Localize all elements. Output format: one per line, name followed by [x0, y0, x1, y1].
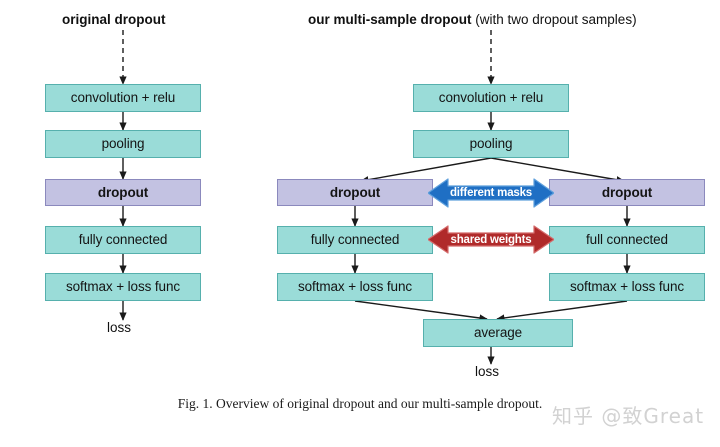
- watermark: 知乎 @致Great: [552, 400, 704, 429]
- arrow-softmax-right-to-average: [497, 301, 627, 319]
- node-fully-connected-branch-left: fully connected: [277, 226, 433, 254]
- output-label-loss-left: loss: [107, 320, 131, 335]
- node-dropout-branch-right: dropout: [549, 179, 705, 206]
- node-label: full connected: [586, 233, 668, 247]
- annotation-label: shared weights: [451, 234, 532, 246]
- node-softmax-loss-branch-right: softmax + loss func: [549, 273, 705, 301]
- node-label: fully connected: [311, 233, 400, 247]
- left-panel-title-text: original dropout: [62, 12, 166, 27]
- connector-layer: [0, 0, 720, 447]
- node-label: average: [474, 326, 522, 340]
- node-label: pooling: [102, 137, 145, 151]
- node-softmax-loss-branch-left: softmax + loss func: [277, 273, 433, 301]
- arrow-softmax-left-to-average: [355, 301, 487, 319]
- node-average: average: [423, 319, 573, 347]
- node-label: dropout: [602, 186, 652, 200]
- node-label: convolution + relu: [439, 91, 543, 105]
- node-convolution-relu-right: convolution + relu: [413, 84, 569, 112]
- annotation-label: different masks: [450, 187, 532, 199]
- node-label: dropout: [98, 186, 148, 200]
- annotation-shared-weights: shared weights: [428, 223, 554, 256]
- node-label: softmax + loss func: [570, 280, 684, 294]
- node-dropout-left: dropout: [45, 179, 201, 206]
- node-full-connected-branch-right: full connected: [549, 226, 705, 254]
- node-label: dropout: [330, 186, 380, 200]
- node-dropout-branch-left: dropout: [277, 179, 433, 206]
- node-softmax-loss-left: softmax + loss func: [45, 273, 201, 301]
- right-panel-title-bold: our multi-sample dropout: [308, 12, 472, 27]
- right-panel-title: our multi-sample dropout (with two dropo…: [308, 12, 637, 27]
- left-panel-title: original dropout: [62, 12, 166, 27]
- figure-canvas: original dropout convolution + relu pool…: [0, 0, 720, 447]
- node-label: softmax + loss func: [66, 280, 180, 294]
- node-label: pooling: [470, 137, 513, 151]
- node-label: convolution + relu: [71, 91, 175, 105]
- node-fully-connected-left: fully connected: [45, 226, 201, 254]
- node-pooling-right: pooling: [413, 130, 569, 158]
- node-pooling-left: pooling: [45, 130, 201, 158]
- right-panel-title-rest: (with two dropout samples): [472, 12, 637, 27]
- node-label: softmax + loss func: [298, 280, 412, 294]
- annotation-different-masks: different masks: [428, 176, 554, 210]
- node-convolution-relu-left: convolution + relu: [45, 84, 201, 112]
- output-label-loss-right: loss: [475, 364, 499, 379]
- node-label: fully connected: [79, 233, 168, 247]
